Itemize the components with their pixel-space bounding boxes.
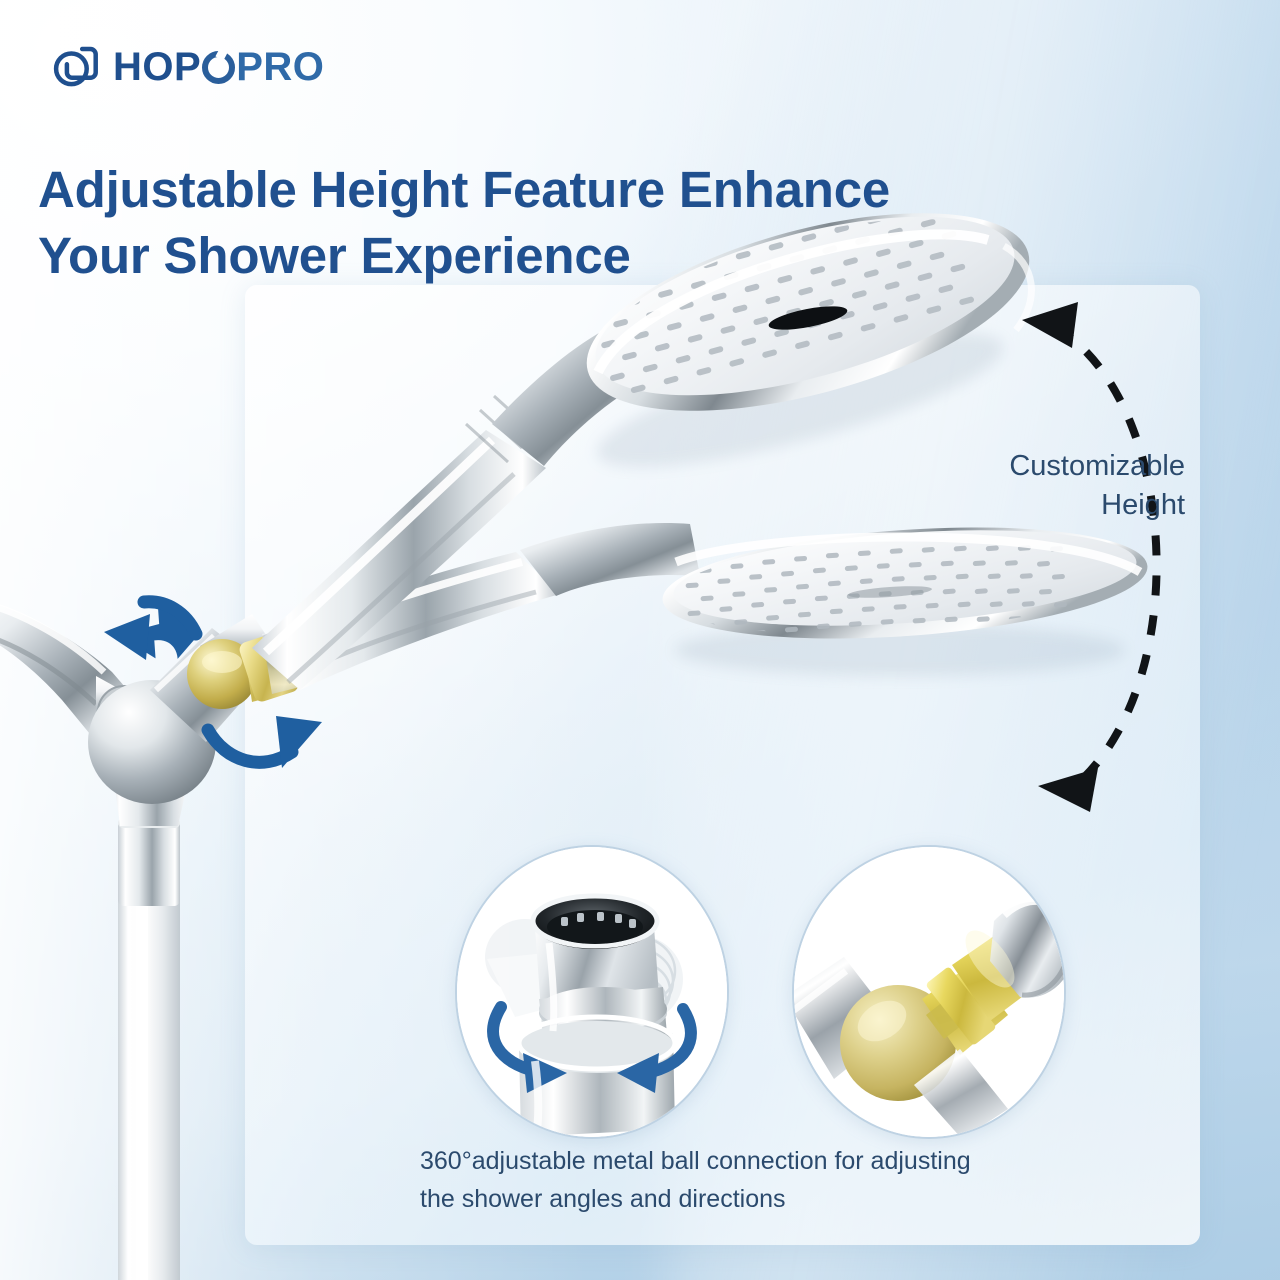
swivel-connector-illustration [457, 847, 727, 1137]
customizable-height-line-2: Height [905, 486, 1185, 525]
customizable-height-line-1: Customizable [905, 447, 1185, 486]
customizable-height-label: Customizable Height [905, 447, 1185, 524]
caption-line-1: 360°adjustable metal ball connection for… [420, 1143, 1100, 1181]
feature-caption: 360°adjustable metal ball connection for… [420, 1143, 1100, 1218]
marketing-image: H OP PRO Adjustable Height Feature Enhan… [0, 0, 1280, 1280]
inset-brass-ball-joint [792, 845, 1066, 1139]
inset-swivel-connector [455, 845, 729, 1139]
brass-ball-joint-illustration [794, 847, 1064, 1137]
caption-line-2: the shower angles and directions [420, 1181, 1100, 1219]
slide-bar [118, 818, 180, 1280]
